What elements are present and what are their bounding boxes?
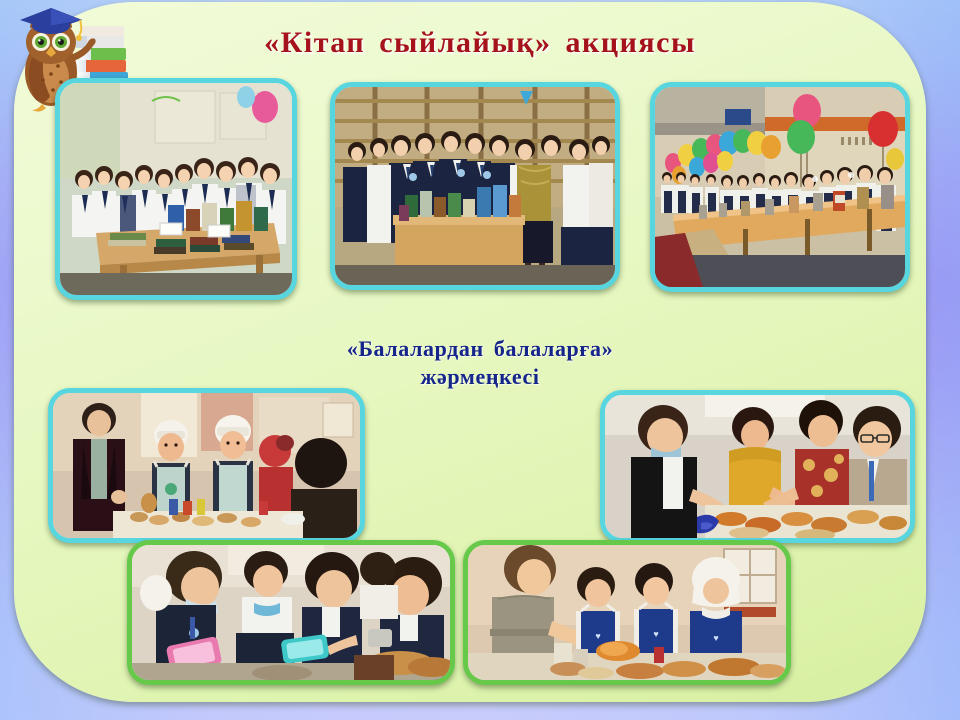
photo-2-image (335, 87, 615, 285)
photo-3-hall-with-balloons[interactable] (650, 82, 910, 292)
photo-6-image (132, 545, 450, 680)
photo-7-image: ♥ ♥ ♥ (468, 545, 786, 680)
photo-3-image (655, 87, 905, 287)
photo-4-children-chefs[interactable] (48, 388, 365, 543)
photo-5-image (605, 395, 910, 538)
slide-sub-title: «Балалардан балаларға» жәрмеңкесі (0, 335, 960, 391)
svg-text:♥: ♥ (595, 631, 600, 641)
presentation-slide: «Кітап сыйлайық» акциясы (0, 0, 960, 720)
photo-4-image (53, 393, 360, 538)
photo-2-senior-students-teacher[interactable] (330, 82, 620, 290)
sub-title-line-1: «Балалардан балаларға» (347, 336, 613, 361)
slide-main-title: «Кітап сыйлайық» акциясы (0, 26, 960, 60)
photo-6-students-choosing-goods[interactable] (127, 540, 455, 685)
photo-1-book-exhibition[interactable] (55, 78, 297, 300)
svg-text:♥: ♥ (713, 633, 718, 643)
photo-7-teacher-with-blue-aprons[interactable]: ♥ ♥ ♥ (463, 540, 791, 685)
svg-text:♥: ♥ (653, 629, 658, 639)
photo-5-fair-buyers[interactable] (600, 390, 915, 543)
photo-1-image (60, 83, 292, 295)
